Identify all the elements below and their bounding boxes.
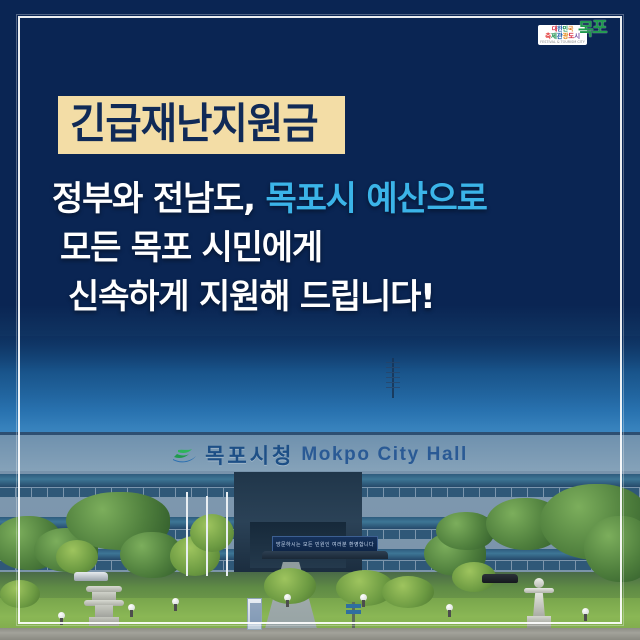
headline-line1-accent: 목포시 예산으로 (265, 179, 486, 219)
building-sign: 목포시청 Mokpo City Hall (0, 440, 640, 470)
title-highlight-block: 긴급재난지원금 (58, 96, 345, 154)
entrance-canopy (262, 551, 388, 559)
shrub (0, 580, 40, 608)
building-sign-english: Mokpo City Hall (301, 444, 468, 466)
parked-car (482, 574, 518, 583)
roof-antenna (386, 358, 400, 398)
information-kiosk (247, 598, 262, 630)
logo-mark-char2: 포 (592, 20, 608, 37)
garden-lamp (172, 598, 179, 605)
garden-lamp (58, 612, 65, 619)
direction-signpost (352, 602, 355, 628)
stone-monument (522, 578, 556, 628)
flagpole (186, 492, 188, 576)
logo-mokpo-mark: 목 포 (578, 20, 610, 56)
headline-line1-white: 정부와 전남도, (52, 179, 255, 219)
shrub (382, 576, 434, 608)
garden-lamp (582, 608, 589, 615)
building-sign-korean: 목포시청 (205, 440, 294, 470)
headline-block: 정부와 전남도, 목포시 예산으로 모든 목포 시민에게 신속하게 지원해 드립… (52, 175, 592, 322)
garden-lamp (284, 594, 291, 601)
parked-car (74, 572, 108, 581)
headline-line-2: 모든 목포 시민에게 (52, 224, 592, 273)
pine-tree (436, 512, 494, 550)
flagpole (226, 492, 228, 576)
entrance-banner-text: 방문하시는 모든 민원인 여러분 환영합니다 (276, 541, 374, 548)
garden-lamp (446, 604, 453, 611)
logo-badge-line2: 축제관광도시 (545, 33, 580, 41)
shrub (56, 540, 98, 574)
bird-wave-logo-icon (172, 446, 198, 464)
garden-lamp (128, 604, 135, 611)
garden-lamp (360, 594, 367, 601)
front-road (0, 628, 640, 640)
headline-line-1: 정부와 전남도, 목포시 예산으로 (52, 175, 592, 224)
city-hall-photo: 목포시청 Mokpo City Hall 방문하시는 모든 민원인 여러분 환영… (0, 336, 640, 640)
headline-line-3: 신속하게 지원해 드립니다! (52, 273, 592, 322)
flagpole (206, 496, 208, 576)
mokpo-city-logo: 대한민국 축제관광도시 FESTIVAL & TOURISM CITY 목 포 (538, 20, 610, 56)
page-title: 긴급재난지원금 (70, 102, 318, 146)
stone-lantern (84, 584, 124, 626)
promo-card: 목포시청 Mokpo City Hall 방문하시는 모든 민원인 여러분 환영… (0, 0, 640, 640)
